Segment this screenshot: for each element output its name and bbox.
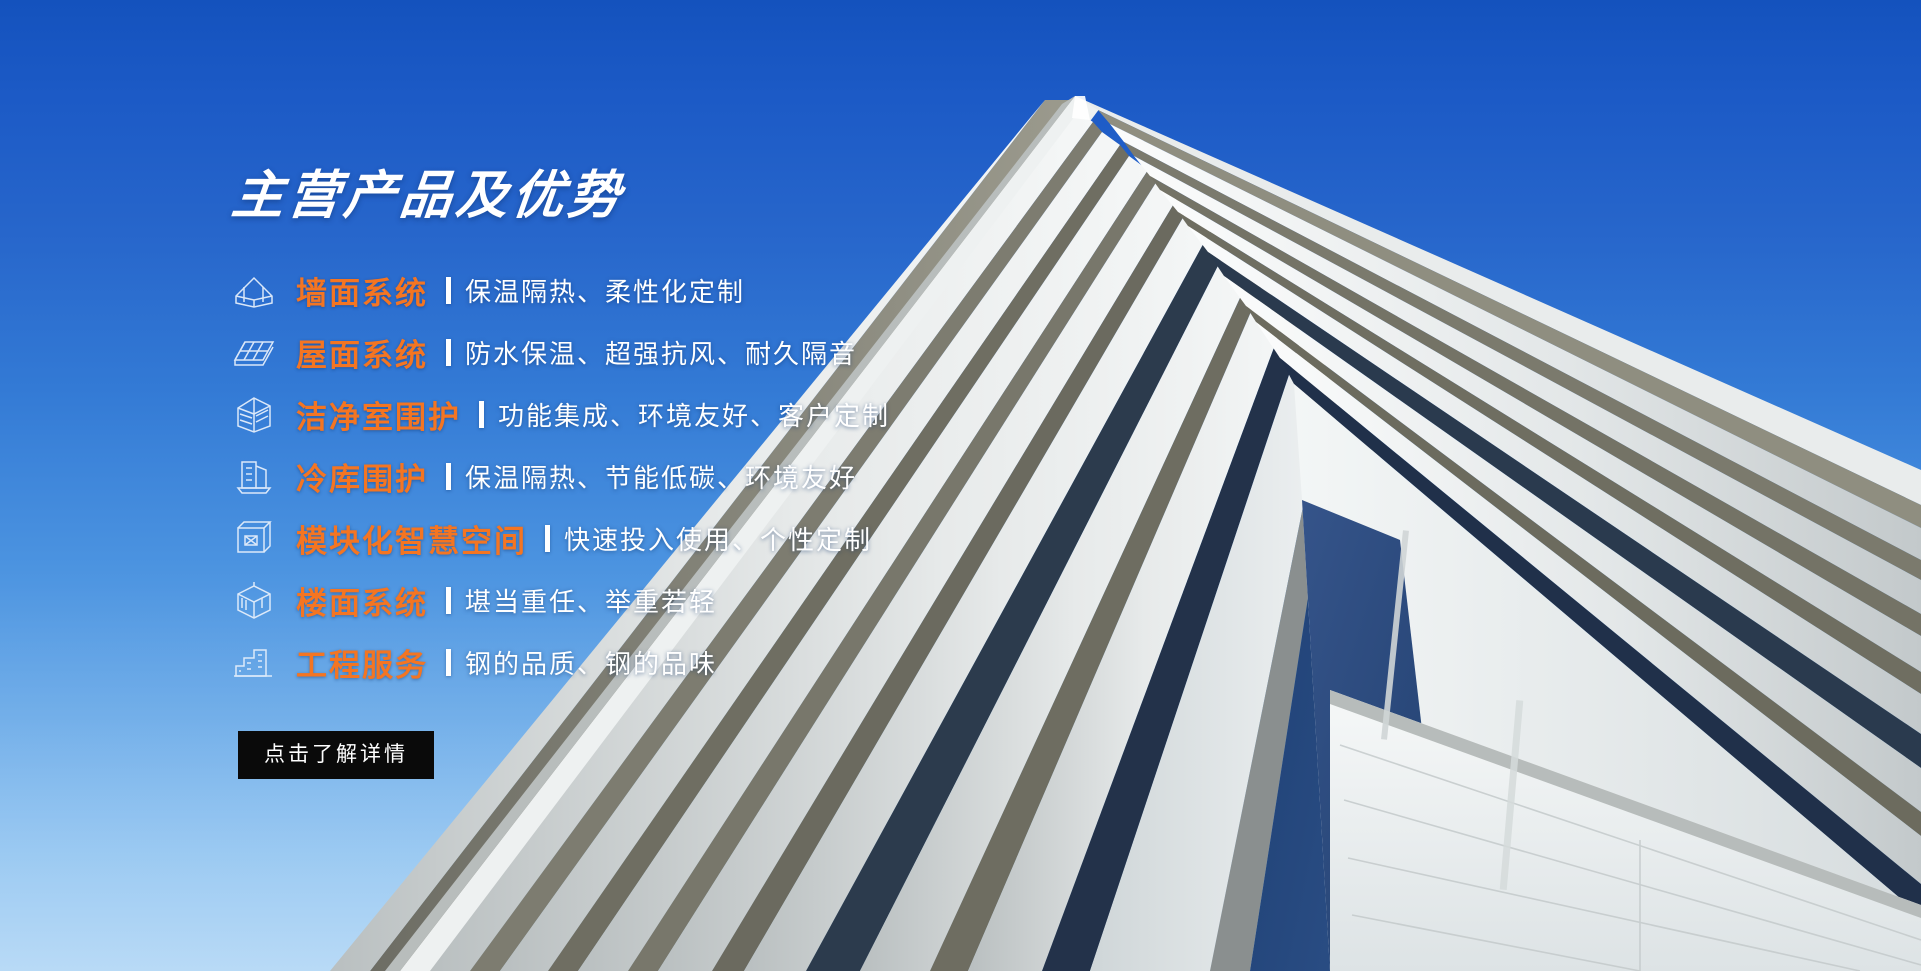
product-separator	[479, 401, 484, 428]
product-row-engineering-service[interactable]: 工程服务 钢的品质、钢的品味	[232, 631, 1132, 693]
product-separator	[446, 587, 451, 614]
wall-panel-icon	[232, 268, 284, 312]
engineering-service-icon	[232, 640, 284, 684]
cold-storage-icon	[232, 454, 284, 498]
product-separator	[446, 649, 451, 676]
product-name: 工程服务	[296, 640, 428, 685]
product-row-floor-system[interactable]: 楼面系统 堪当重任、举重若轻	[232, 569, 1132, 631]
floor-deck-icon	[232, 578, 284, 622]
cleanroom-building-icon	[232, 392, 284, 436]
learn-more-button[interactable]: 点击了解详情	[238, 731, 434, 779]
cta-container: 点击了解详情	[232, 731, 1132, 779]
product-name: 模块化智慧空间	[296, 516, 527, 561]
product-separator	[545, 525, 550, 552]
product-separator	[446, 339, 451, 366]
roof-panel-icon	[232, 330, 284, 374]
product-row-wall-system[interactable]: 墙面系统 保温隔热、柔性化定制	[232, 259, 1132, 321]
product-name: 冷库围护	[296, 454, 428, 499]
product-name: 墙面系统	[296, 268, 428, 313]
product-advantage-banner: 主营产品及优势 墙面系统 保温隔热、柔性化定制	[0, 0, 1921, 971]
product-row-cleanroom-envelope[interactable]: 洁净室围护 功能集成、环境友好、客户定制	[232, 383, 1132, 445]
product-description: 快速投入使用、个性定制	[564, 520, 872, 557]
product-description: 保温隔热、柔性化定制	[465, 272, 745, 309]
product-description: 堪当重任、举重若轻	[465, 582, 717, 619]
product-row-modular-smart-space[interactable]: 模块化智慧空间 快速投入使用、个性定制	[232, 507, 1132, 569]
product-description: 保温隔热、节能低碳、环境友好	[465, 458, 857, 495]
product-description: 钢的品质、钢的品味	[465, 644, 717, 681]
product-row-roof-system[interactable]: 屋面系统 防水保温、超强抗风、耐久隔音	[232, 321, 1132, 383]
product-name: 楼面系统	[296, 578, 428, 623]
modular-cube-icon	[232, 516, 284, 560]
product-list: 墙面系统 保温隔热、柔性化定制 屋面系统	[232, 259, 1132, 693]
product-description: 防水保温、超强抗风、耐久隔音	[465, 334, 857, 371]
product-description: 功能集成、环境友好、客户定制	[498, 396, 890, 433]
banner-content: 主营产品及优势 墙面系统 保温隔热、柔性化定制	[232, 168, 1132, 779]
product-separator	[446, 277, 451, 304]
page-title: 主营产品及优势	[229, 168, 1135, 225]
product-separator	[446, 463, 451, 490]
product-name: 屋面系统	[296, 330, 428, 375]
product-name: 洁净室围护	[296, 392, 461, 437]
product-row-cold-storage-envelope[interactable]: 冷库围护 保温隔热、节能低碳、环境友好	[232, 445, 1132, 507]
